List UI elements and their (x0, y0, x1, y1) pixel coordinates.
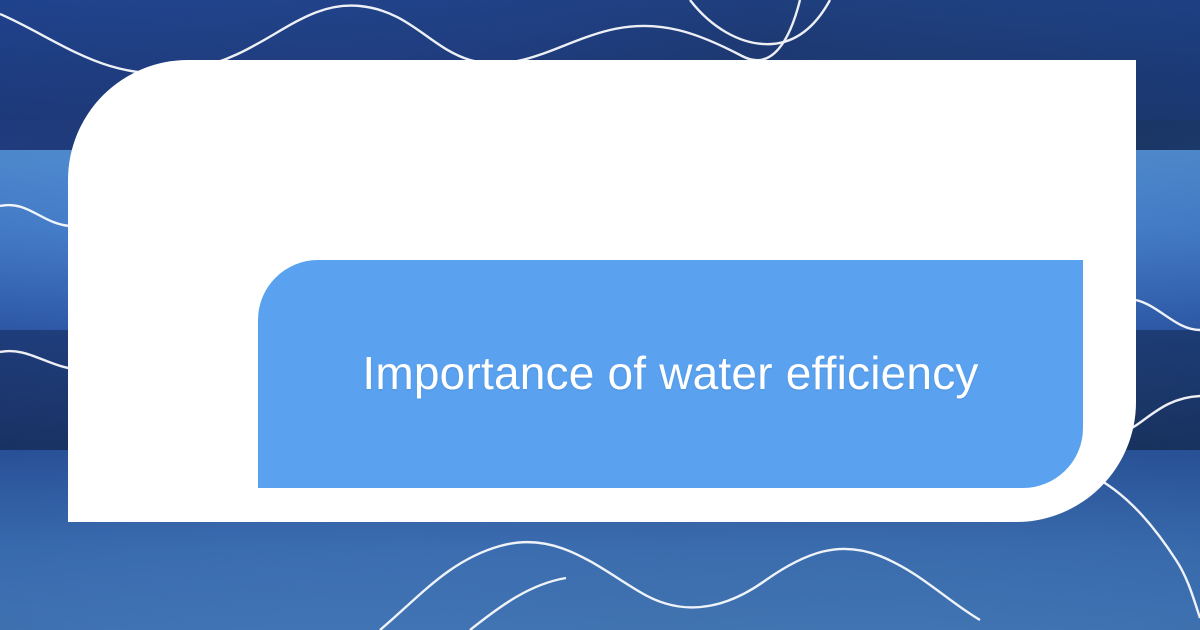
title-panel: Importance of water efficiency (258, 260, 1083, 488)
white-card: Importance of water efficiency (68, 60, 1136, 522)
banner-image: Importance of water efficiency (0, 0, 1200, 630)
page-title: Importance of water efficiency (362, 345, 978, 403)
